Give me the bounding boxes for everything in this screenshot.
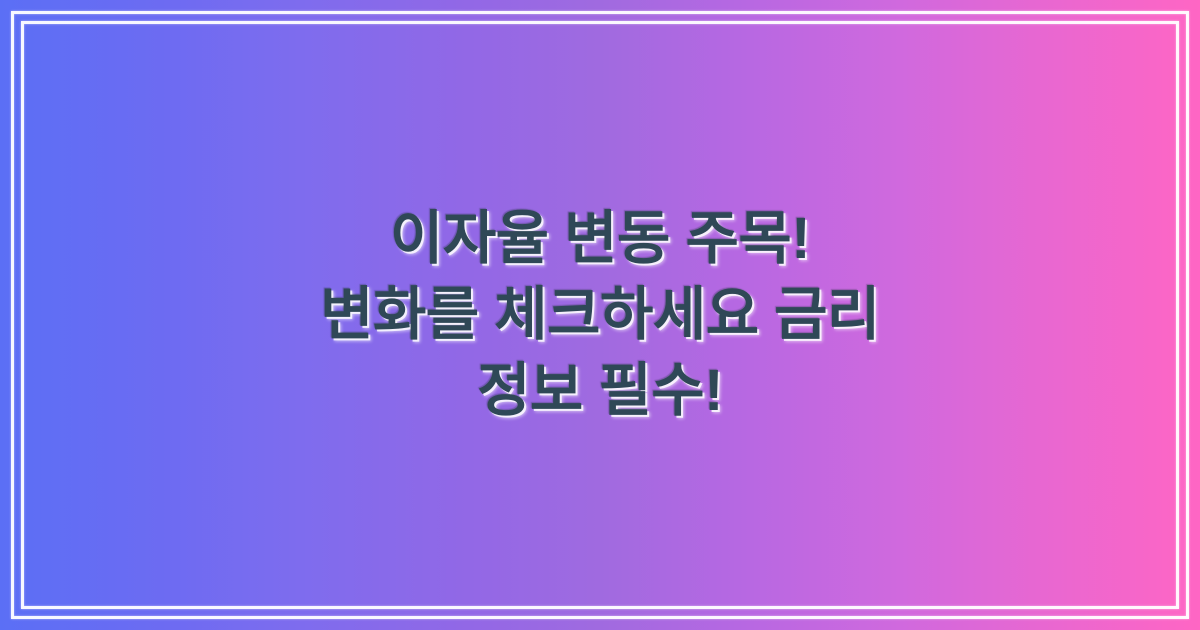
promo-banner: 이자율 변동 주목! 변화를 체크하세요 금리 정보 필수! xyxy=(0,0,1200,630)
banner-headline: 이자율 변동 주목! 변화를 체크하세요 금리 정보 필수! xyxy=(250,201,950,429)
banner-content: 이자율 변동 주목! 변화를 체크하세요 금리 정보 필수! xyxy=(0,0,1200,630)
